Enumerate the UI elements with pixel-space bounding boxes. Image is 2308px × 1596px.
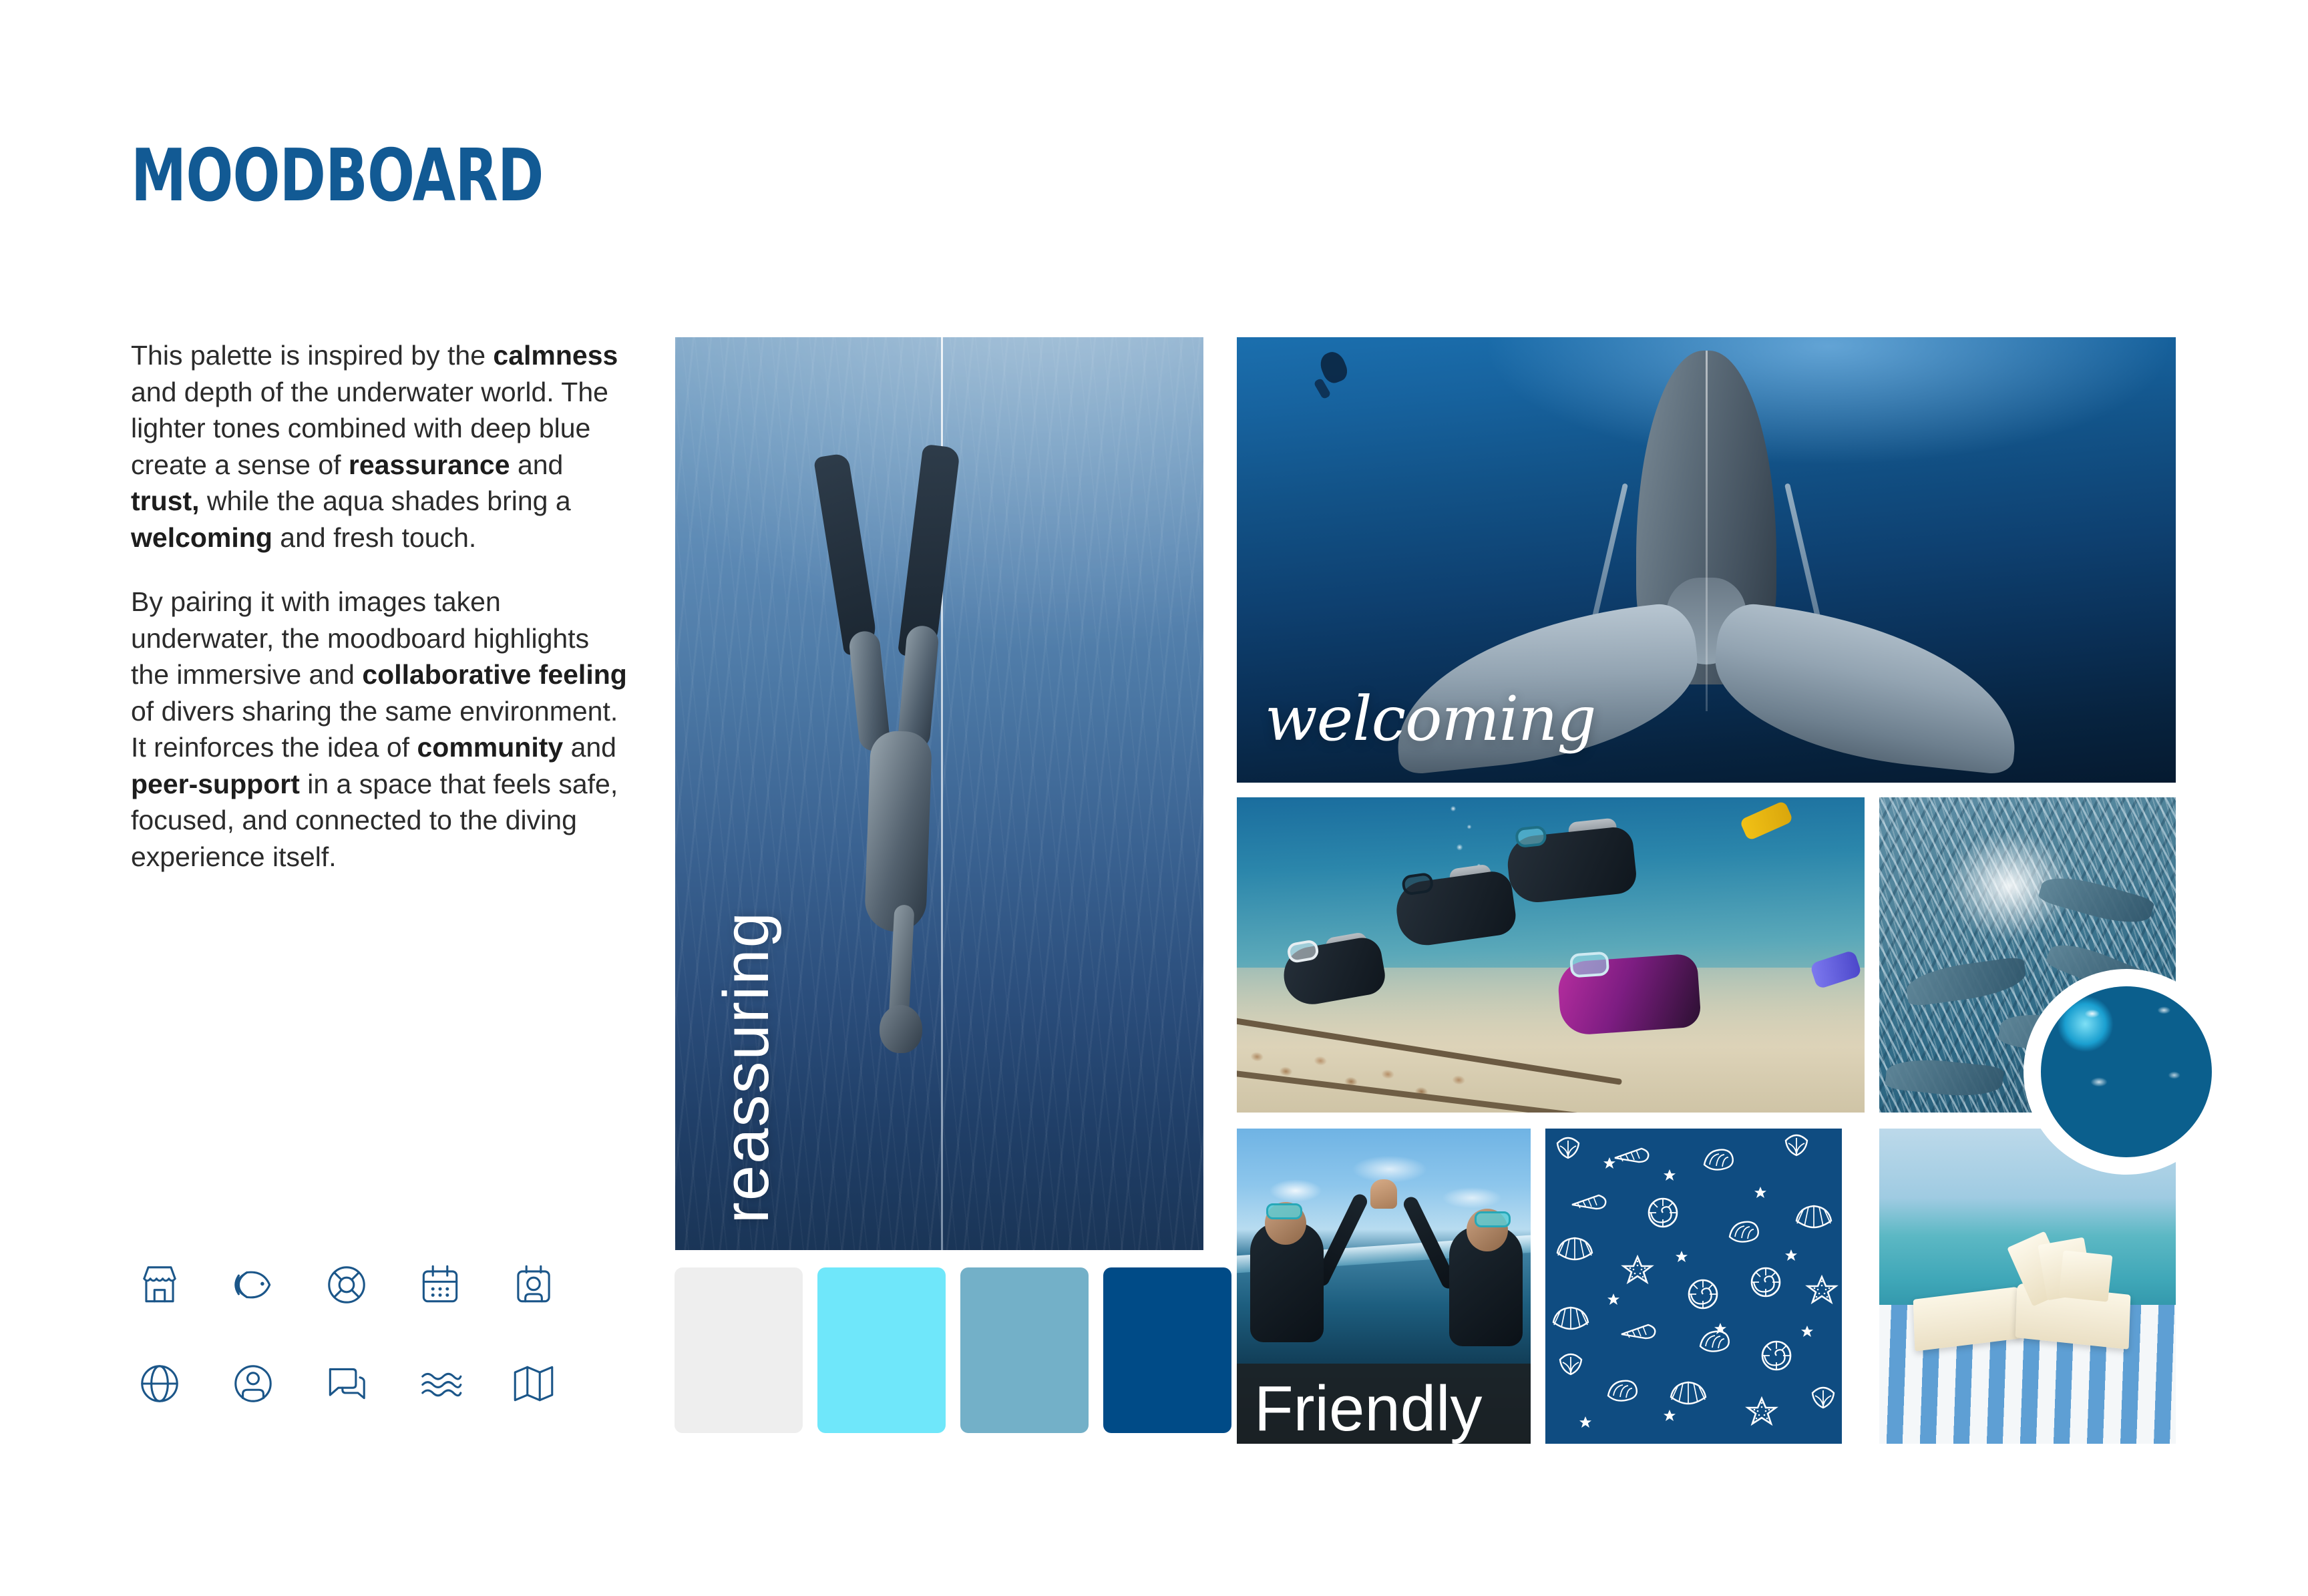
page-title: MOODBOARD bbox=[131, 140, 568, 212]
seashell-pattern-art bbox=[1545, 1129, 1842, 1444]
map-icon[interactable] bbox=[508, 1358, 560, 1410]
whale-ridge bbox=[1706, 351, 1708, 711]
tile-seashell-pattern[interactable] bbox=[1545, 1129, 1842, 1444]
title-block: MOODBOARD bbox=[131, 140, 638, 212]
globe-icon[interactable] bbox=[134, 1358, 186, 1410]
chat-bubbles-icon[interactable] bbox=[321, 1358, 373, 1410]
calendar-icon[interactable] bbox=[414, 1259, 466, 1311]
description-text: This palette is inspired by the calmness… bbox=[131, 337, 628, 875]
icon-set bbox=[134, 1259, 560, 1410]
waves-icon[interactable] bbox=[414, 1358, 466, 1410]
tile-scuba-group[interactable] bbox=[1237, 797, 1865, 1113]
swatch-deep-navy[interactable] bbox=[1103, 1267, 1231, 1433]
paragraph-2: By pairing it with images taken underwat… bbox=[131, 584, 628, 875]
diver-head bbox=[880, 1005, 922, 1053]
caption-reassuring: reassuring bbox=[710, 911, 783, 1223]
high-five-hands bbox=[1370, 1179, 1397, 1209]
id-badge-icon[interactable] bbox=[508, 1259, 560, 1311]
user-circle-icon[interactable] bbox=[227, 1358, 279, 1410]
swatch-steel-blue[interactable] bbox=[960, 1267, 1089, 1433]
blue-glass-beads bbox=[2041, 986, 2212, 1157]
moodboard-page: MOODBOARD This palette is inspired by th… bbox=[0, 0, 2308, 1596]
life-ring-icon[interactable] bbox=[321, 1259, 373, 1311]
dive-mask-left bbox=[1266, 1203, 1302, 1219]
fish-icon[interactable] bbox=[227, 1259, 279, 1311]
swatch-light-grey[interactable] bbox=[675, 1267, 803, 1433]
shop-icon[interactable] bbox=[134, 1259, 186, 1311]
tile-beach-book[interactable] bbox=[1879, 1129, 2176, 1444]
book-loose-page bbox=[2059, 1250, 2113, 1302]
yellow-fin bbox=[1739, 800, 1793, 841]
dive-mask bbox=[1569, 952, 1609, 978]
tile-blue-beads-circle[interactable] bbox=[2024, 969, 2229, 1175]
tile-high-five-divers[interactable]: Friendly bbox=[1237, 1129, 1531, 1444]
caption-friendly: Friendly bbox=[1254, 1377, 1482, 1441]
tile-whale-tail[interactable]: welcoming bbox=[1237, 337, 2176, 783]
diver-torso bbox=[864, 730, 932, 932]
paragraph-1: This palette is inspired by the calmness… bbox=[131, 337, 628, 556]
color-palette bbox=[675, 1267, 1231, 1433]
swatch-aqua-bright[interactable] bbox=[817, 1267, 946, 1433]
dive-mask-right bbox=[1475, 1211, 1511, 1227]
caption-welcoming: welcoming bbox=[1265, 683, 1595, 755]
tile-freediver-hero[interactable]: reassuring bbox=[675, 337, 1203, 1250]
